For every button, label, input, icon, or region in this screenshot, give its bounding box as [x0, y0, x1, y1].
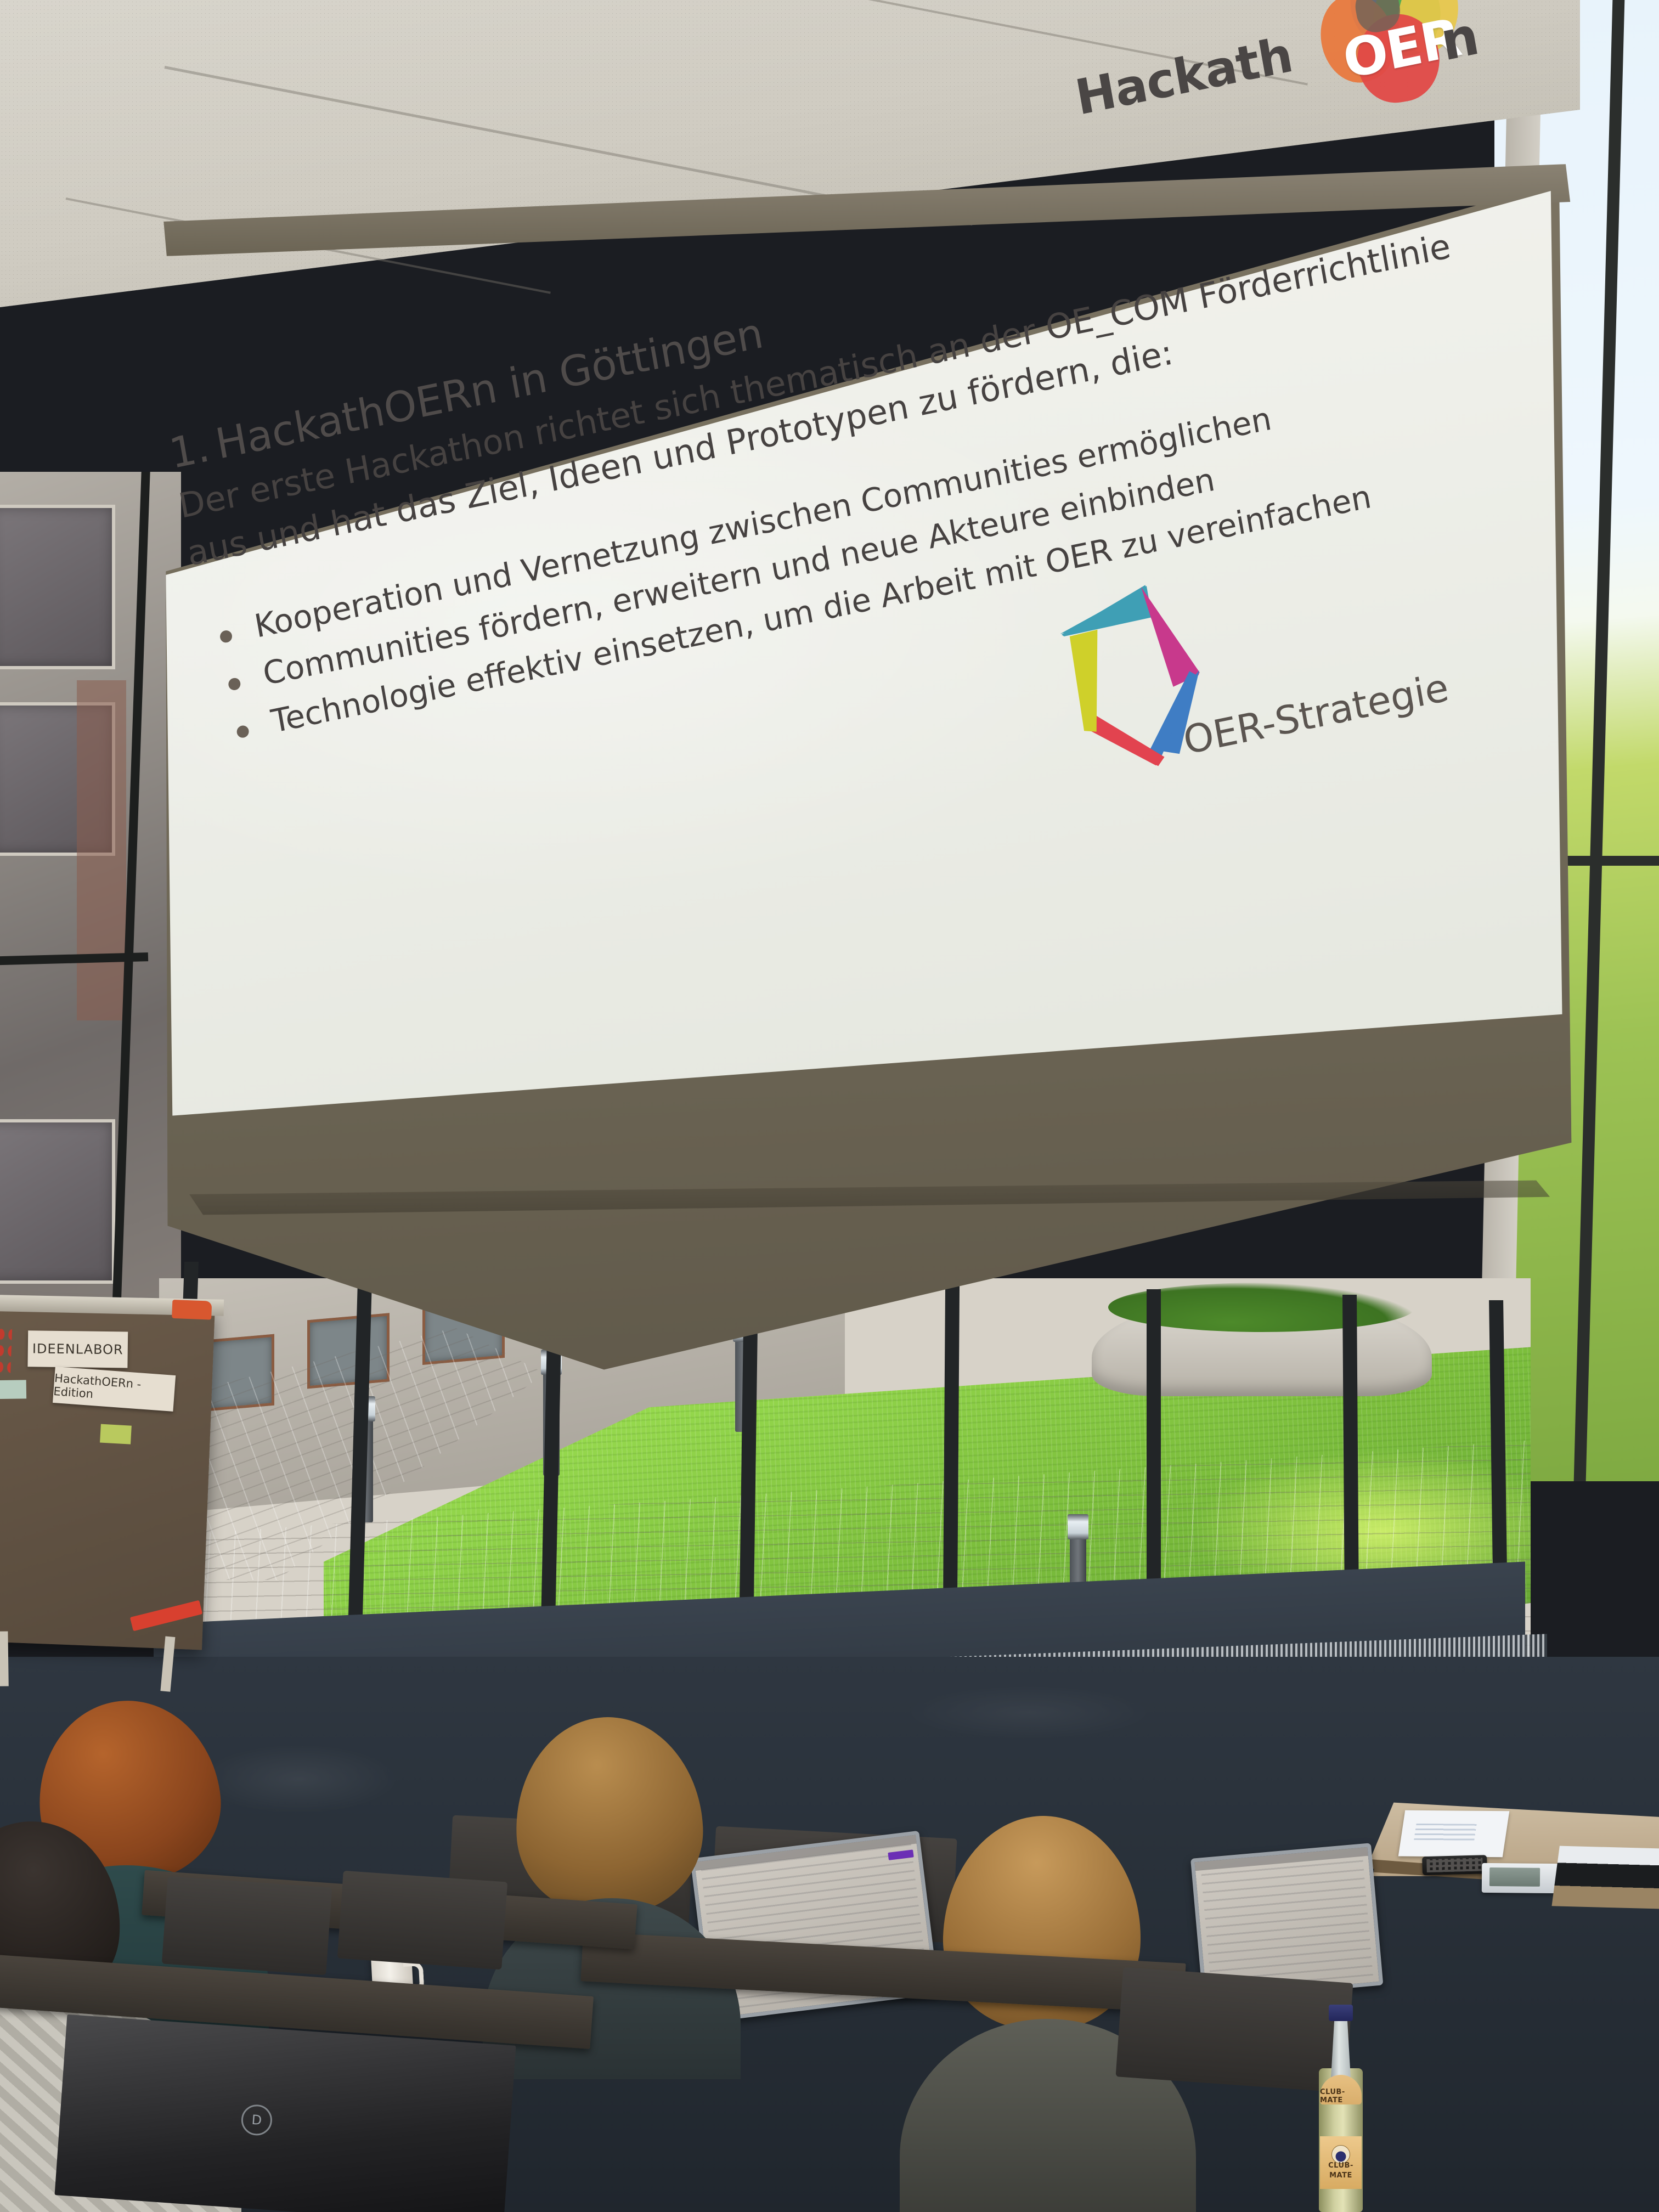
bottle-brand-text: CLUB-MATE [1328, 2162, 1353, 2180]
paper-text-lines [1414, 1824, 1476, 1841]
projection-screen [160, 176, 1573, 1409]
pinboard-leg [0, 1631, 9, 1686]
bottle-brand-text-top: CLUB-MATE [1320, 2088, 1362, 2104]
pinboard-corner-cap [172, 1300, 212, 1320]
lectern-desk [1347, 1793, 1659, 1948]
facade-window [0, 1119, 115, 1284]
remote-buttons[interactable] [1426, 1858, 1483, 1872]
bottle-neck [1331, 2017, 1351, 2078]
facade-window [0, 505, 115, 669]
facade-brick-pier [77, 680, 126, 1020]
sticky-note [0, 1380, 26, 1399]
laptop-content-lines [1201, 1854, 1373, 1990]
left-glass-wall [0, 472, 181, 1404]
laptop-closed-dell[interactable]: D [54, 2015, 516, 2212]
av-control-panel[interactable] [1482, 1863, 1564, 1893]
laptop-lid [54, 2015, 516, 2212]
pinboard-magnets [0, 1326, 12, 1376]
av-panel-display [1489, 1867, 1540, 1887]
bollard-light [357, 1396, 373, 1522]
paper-sheet [1398, 1810, 1510, 1858]
club-mate-bottle: CLUB-MATE CLUB-MATE [1311, 1997, 1372, 2212]
lecture-hall-photo: Hackath OER n 1.HackathOERn in Göttingen… [0, 0, 1659, 2212]
bottle-cap [1329, 2005, 1353, 2021]
seat-divider [337, 1871, 507, 1970]
sticky-note [100, 1424, 132, 1444]
bottle-main-label: CLUB-MATE [1320, 2136, 1362, 2189]
window-mullion-vertical-2 [1574, 0, 1625, 1481]
pinboard-note-ideenlabor: IDEENLABOR [27, 1330, 128, 1368]
remote-control[interactable] [1422, 1855, 1487, 1875]
pinboard: IDEENLABOR HackathOERn - Edition [0, 1302, 215, 1650]
equipment-box [1551, 1846, 1659, 1909]
seat-divider [162, 1876, 332, 1976]
pinboard-note-edition: HackathOERn - Edition [53, 1367, 176, 1412]
